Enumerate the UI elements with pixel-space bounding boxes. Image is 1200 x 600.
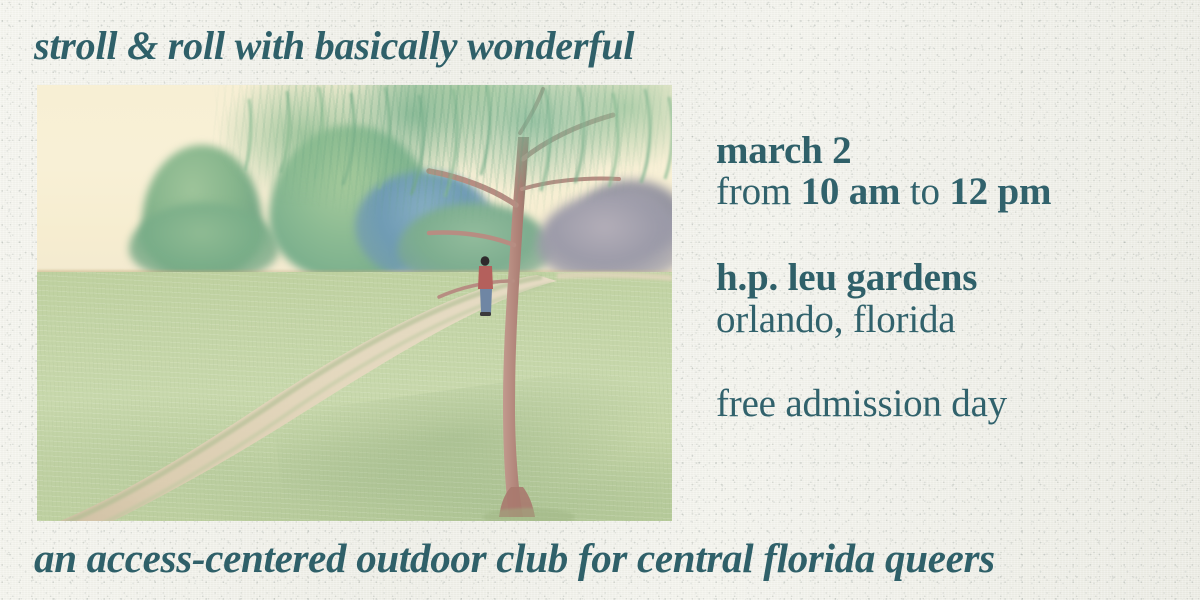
dirt-path — [37, 275, 557, 521]
event-time: from 10 am to 12 pm — [716, 171, 1166, 213]
person-legs — [480, 289, 492, 313]
event-details: march 2 from 10 am to 12 pm h.p. leu gar… — [716, 130, 1166, 425]
time-start: 10 am — [801, 170, 901, 213]
flyer-headline: stroll & roll with basically wonderful — [34, 22, 634, 69]
willow-canopy-strands — [212, 85, 672, 243]
person-head — [481, 256, 490, 266]
event-date: march 2 — [716, 130, 1166, 171]
time-end: 12 pm — [949, 170, 1051, 213]
landscape-illustration — [37, 85, 672, 521]
flyer-tagline: an access-centered outdoor club for cent… — [34, 534, 1169, 582]
person-shoes — [480, 312, 491, 316]
venue-city: orlando, florida — [716, 299, 1166, 341]
willow-ground-shadow — [483, 508, 575, 521]
admission-note: free admission day — [716, 383, 1166, 425]
venue-block: h.p. leu gardens orlando, florida — [716, 257, 1166, 340]
far-path-segment — [557, 272, 672, 281]
venue-name: h.p. leu gardens — [716, 257, 1166, 298]
person-top — [478, 266, 493, 289]
date-time-block: march 2 from 10 am to 12 pm — [716, 130, 1166, 213]
time-prefix: from — [716, 170, 801, 213]
event-flyer: stroll & roll with basically wonderful — [0, 0, 1200, 600]
admission-block: free admission day — [716, 383, 1166, 425]
time-join: to — [900, 170, 949, 213]
